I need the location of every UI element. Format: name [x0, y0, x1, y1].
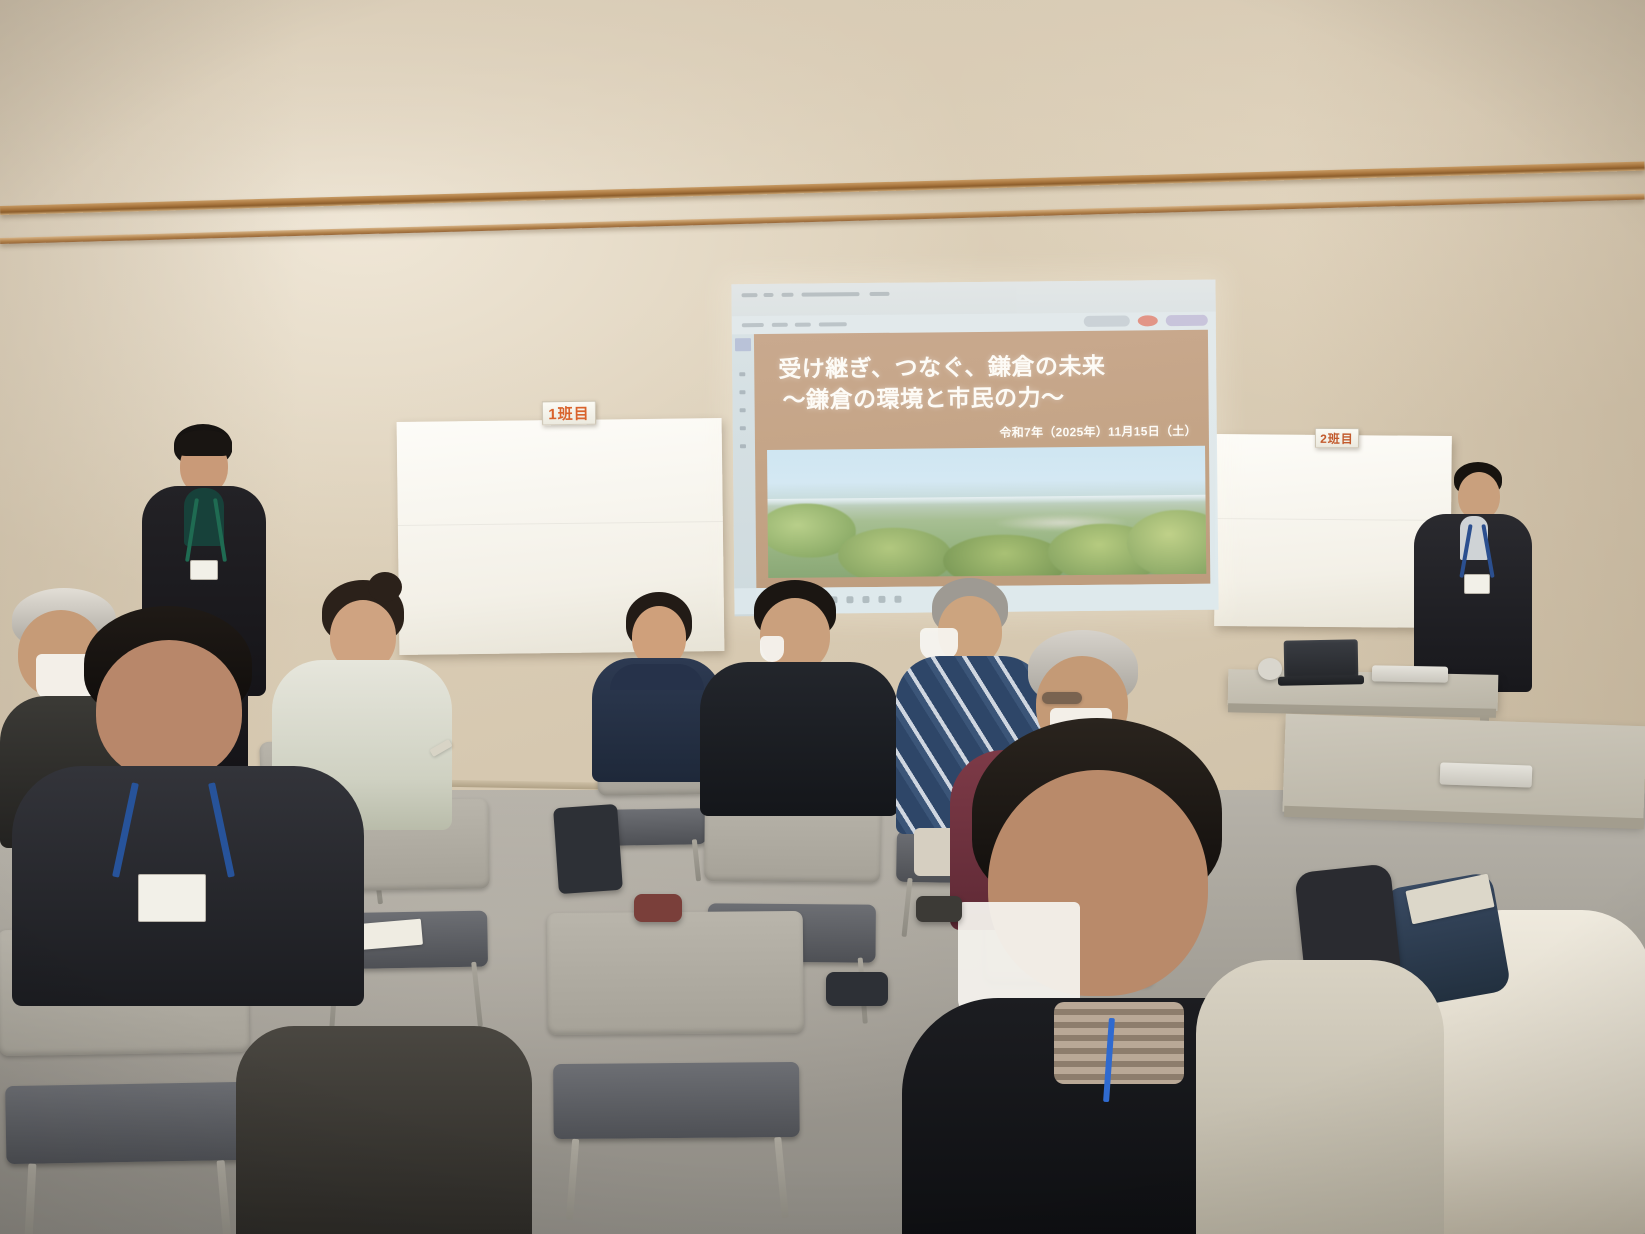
hood [610, 664, 704, 690]
hair-topknot [368, 572, 402, 602]
photo-scene: 1班目 2班目 [0, 0, 1645, 1234]
chair-back [547, 911, 804, 1035]
head [1458, 472, 1500, 520]
face-mask [760, 636, 784, 662]
projector-remote[interactable] [1440, 762, 1533, 787]
slide-thumbnail-3[interactable] [739, 390, 745, 394]
audience-member-bottom-left [236, 1026, 536, 1234]
chair[interactable] [547, 911, 806, 1203]
slide-title: 受け継ぎ、つなぐ、鎌倉の未来 〜鎌倉の環境と市民の力〜 [778, 351, 1106, 415]
shoe [916, 896, 962, 922]
slide-landscape-photo: 鎌倉の丘から望む街並みと海 [767, 446, 1206, 578]
striped-collar [1054, 1002, 1184, 1084]
chrome-tab-title [802, 292, 860, 297]
audience-member-foreground-lanyard [12, 606, 372, 1006]
staff-standing-right [1412, 462, 1534, 692]
toolbar-menu-view[interactable] [795, 323, 811, 327]
slide-title-line-2: 〜鎌倉の環境と市民の力〜 [778, 381, 1105, 415]
audience-member-foreground-right [1196, 960, 1446, 1234]
speaker-device [1258, 658, 1282, 680]
slide-thumbnail-6[interactable] [740, 444, 746, 448]
name-badge [190, 560, 218, 580]
toolbar-share-button[interactable] [1084, 316, 1130, 327]
chair-seat [5, 1082, 246, 1164]
chrome-menu-item [782, 293, 794, 297]
paper-crease [398, 521, 723, 526]
coat [1196, 960, 1444, 1234]
head [96, 640, 242, 780]
slide-title-line-1: 受け継ぎ、つなぐ、鎌倉の未来 [778, 353, 1105, 382]
chair-leg [217, 1160, 232, 1234]
slide-date: 令和7年（2025年）11月15日（土） [999, 422, 1197, 441]
shoulder-bag [553, 804, 623, 894]
chrome-menu-item [870, 292, 890, 296]
projected-screen: 受け継ぎ、つなぐ、鎌倉の未来 〜鎌倉の環境と市民の力〜 令和7年（2025年）1… [731, 280, 1218, 615]
chair-leg [24, 1164, 36, 1234]
photo-tree-2 [838, 528, 952, 578]
chrome-menu-item [764, 293, 774, 297]
toolbar-menu-insert[interactable] [819, 322, 847, 326]
toolbar-menu-edit[interactable] [772, 323, 788, 327]
chair-seat [553, 1062, 799, 1140]
chair-leg [692, 839, 701, 881]
slide-thumbnail-1[interactable] [735, 338, 751, 351]
browser-chrome-bar [731, 280, 1215, 317]
shoe [826, 972, 888, 1006]
document-tray [1372, 665, 1448, 682]
slide-thumbnail-5[interactable] [740, 426, 746, 430]
laptop-keyboard[interactable] [1278, 675, 1364, 685]
name-badge [1464, 574, 1490, 594]
slide-thumbnail-panel[interactable] [732, 334, 757, 616]
slide-thumbnail-4[interactable] [740, 408, 746, 412]
eyeglasses [1042, 692, 1082, 704]
toolbar-menu-file[interactable] [742, 323, 764, 327]
hair-front [176, 430, 232, 456]
toolbar-present-button[interactable] [1166, 315, 1208, 326]
shoe [634, 894, 682, 922]
chrome-menu-item [742, 293, 758, 297]
avatar[interactable] [1138, 315, 1158, 326]
slide-canvas: 受け継ぎ、つなぐ、鎌倉の未来 〜鎌倉の環境と市民の力〜 令和7年（2025年）1… [754, 330, 1210, 588]
slide-thumbnail-2[interactable] [739, 372, 745, 376]
group-sign-2: 2班目 [1315, 428, 1359, 448]
jacket [236, 1026, 532, 1234]
group-sign-1: 1班目 [542, 401, 596, 426]
name-badge [138, 874, 206, 922]
photo-horizon-line [767, 494, 1205, 505]
laptop-screen[interactable] [1284, 639, 1359, 678]
